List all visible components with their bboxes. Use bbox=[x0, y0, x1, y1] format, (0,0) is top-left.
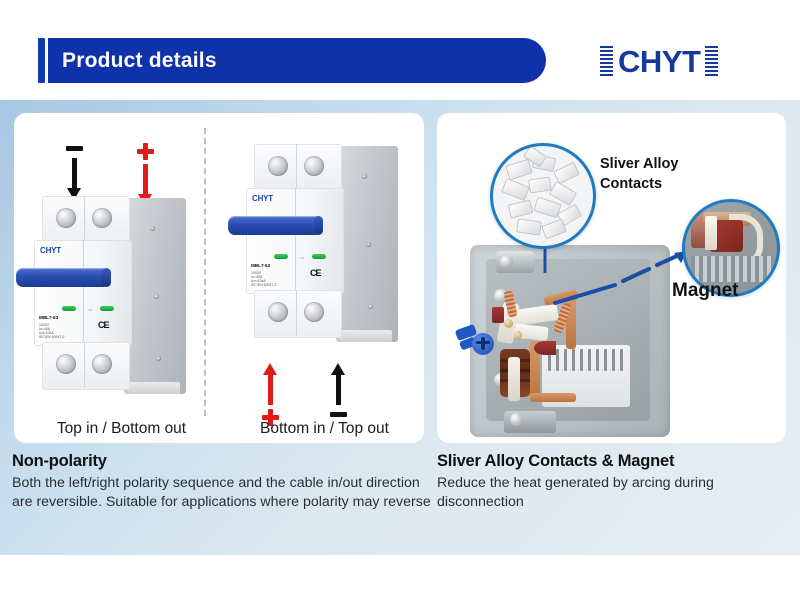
caption-block-contacts-magnet: Sliver Alloy Contacts & Magnet Reduce th… bbox=[437, 452, 787, 512]
page-header: Product details CHYT bbox=[0, 0, 800, 100]
panel-divider bbox=[204, 128, 206, 416]
callout-circle-contacts bbox=[490, 143, 596, 249]
page-title: Product details bbox=[62, 48, 482, 74]
ce-mark-icon: CE bbox=[310, 268, 321, 278]
logo-wordmark: CHYT bbox=[618, 46, 700, 77]
feature-captions: Non-polarity Both the left/right polarit… bbox=[0, 452, 800, 552]
caption-heading: Non-polarity bbox=[12, 452, 432, 471]
callout-contacts-line2: Contacts bbox=[600, 175, 720, 195]
device-brand-label: CHYT bbox=[252, 194, 273, 203]
variant-captions: Top in / Bottom out Bottom in / Top out bbox=[14, 420, 424, 438]
caption-heading: Sliver Alloy Contacts & Magnet bbox=[437, 452, 787, 471]
callout-label-magnet: Magnet bbox=[672, 280, 739, 302]
logo-stripes-right-icon bbox=[705, 46, 718, 76]
device-model: MBL7-63 bbox=[39, 315, 58, 320]
footer-spacer bbox=[0, 555, 800, 591]
device-rating-label: MBL7-63 1000V In=40A Icn=10kA IEC/EN 609… bbox=[251, 254, 277, 288]
arrow-up-icon bbox=[266, 363, 275, 405]
device-brand-label: CHYT bbox=[40, 246, 61, 255]
arrow-down-icon bbox=[70, 158, 79, 200]
ce-mark-icon: CE bbox=[98, 320, 109, 330]
breaker-lever bbox=[16, 268, 110, 287]
caption-block-non-polarity: Non-polarity Both the left/right polarit… bbox=[12, 452, 432, 512]
arrow-up-icon bbox=[334, 363, 343, 405]
polarity-marker-b-left bbox=[262, 363, 279, 426]
minus-sign-icon bbox=[66, 146, 83, 151]
plus-sign-icon bbox=[137, 143, 154, 160]
caption-bottom-in-top-out: Bottom in / Top out bbox=[221, 420, 424, 438]
polarity-marker-a-left bbox=[66, 146, 83, 200]
breaker-device-bottom-in: CHYT MBL7-63 1000V In=40A Icn=10kA IEC/E… bbox=[232, 144, 402, 344]
device-standard: IEC/EN 60947-2 bbox=[251, 284, 277, 288]
brand-logo: CHYT bbox=[600, 43, 768, 79]
callout-contacts-line1: Sliver Alloy bbox=[600, 155, 720, 175]
caption-top-in-bottom-out: Top in / Bottom out bbox=[14, 420, 221, 438]
device-model: MBL7-63 bbox=[251, 263, 270, 268]
product-details-page: Product details CHYT bbox=[0, 0, 800, 591]
caption-body: Both the left/right polarity sequence an… bbox=[12, 474, 432, 512]
breaker-device-top-in: CHYT MBL7-63 1000V In=40A Icn=10kA IEC/E… bbox=[20, 196, 190, 396]
device-rating-label: MBL7-63 1000V In=40A Icn=10kA IEC/EN 609… bbox=[39, 306, 65, 340]
polarity-marker-b-right bbox=[330, 363, 347, 417]
logo-stripes-left-icon bbox=[600, 46, 613, 76]
device-standard: IEC/EN 60947-2 bbox=[39, 336, 65, 340]
minus-sign-icon bbox=[330, 412, 347, 417]
caption-body: Reduce the heat generated by arcing duri… bbox=[437, 474, 787, 512]
breaker-lever bbox=[228, 216, 322, 235]
callout-label-contacts: Sliver Alloy Contacts bbox=[600, 155, 720, 194]
header-accent-bar bbox=[38, 38, 45, 83]
